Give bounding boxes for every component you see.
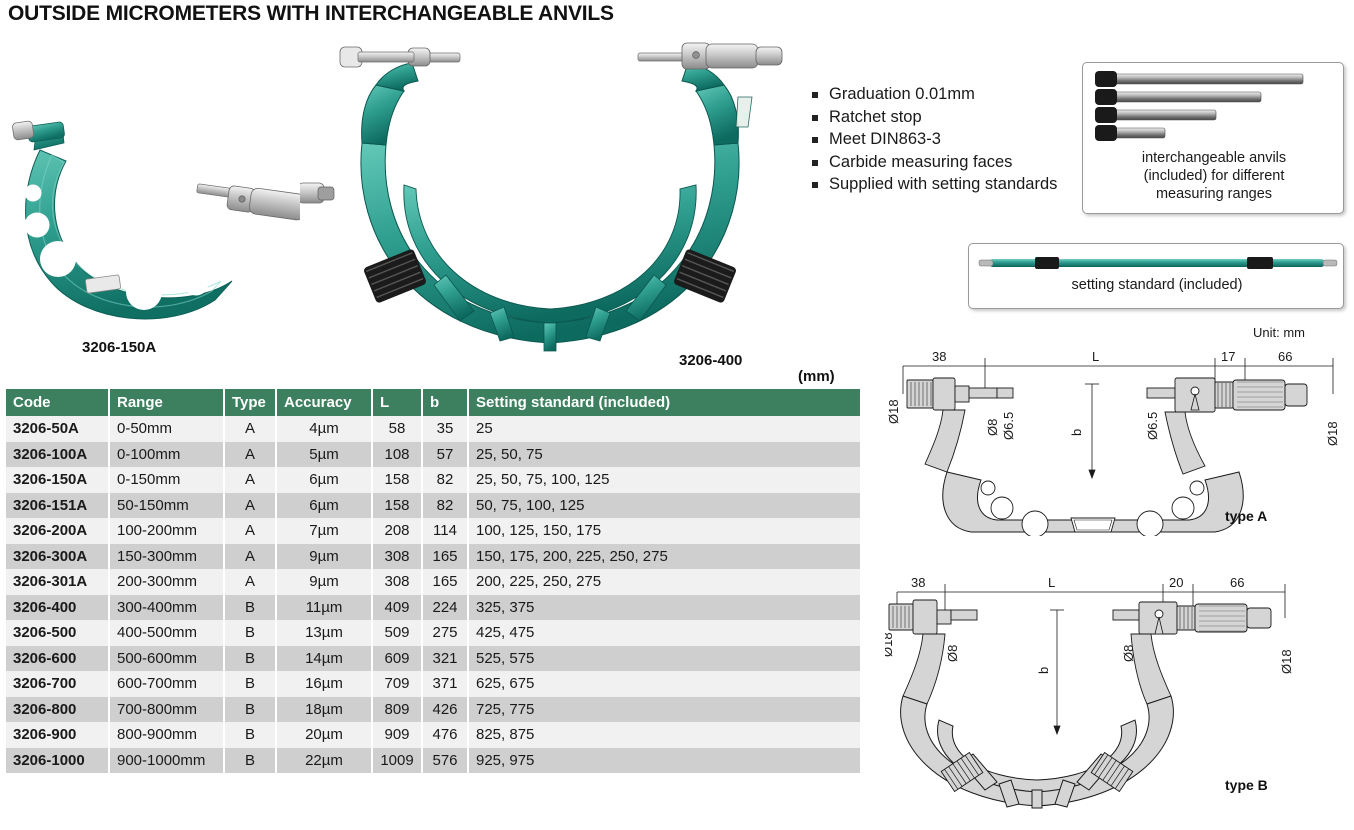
col-header-range: Range: [109, 389, 224, 416]
table-row: 3206-800700-800mmB18µm809426725, 775: [6, 697, 860, 723]
cell-l: 158: [372, 493, 422, 519]
cell-range: 50-150mm: [109, 493, 224, 519]
cell-setting-standard: 25, 50, 75: [468, 442, 860, 468]
cell-type: B: [224, 646, 276, 672]
cell-accuracy: 18µm: [276, 697, 372, 723]
cell-l: 58: [372, 416, 422, 442]
dia-a-65-right: Ø6.5: [1145, 412, 1160, 440]
cell-type: B: [224, 697, 276, 723]
cell-b: 82: [422, 493, 468, 519]
table-row: 3206-1000900-1000mmB22µm1009576925, 975: [6, 748, 860, 774]
cell-b: 165: [422, 544, 468, 570]
table-row: 3206-500400-500mmB13µm509275425, 475: [6, 620, 860, 646]
cell-l: 208: [372, 518, 422, 544]
cell-range: 100-200mm: [109, 518, 224, 544]
cell-range: 0-50mm: [109, 416, 224, 442]
cell-type: B: [224, 671, 276, 697]
dim-b-L: L: [1048, 575, 1055, 590]
cell-setting-standard: 25, 50, 75, 100, 125: [468, 467, 860, 493]
cell-setting-standard: 25: [468, 416, 860, 442]
dia-b-right: Ø18: [1279, 649, 1294, 674]
cell-accuracy: 9µm: [276, 569, 372, 595]
cell-l: 909: [372, 722, 422, 748]
dia-b-left: Ø18: [885, 632, 895, 657]
cell-code: 3206-150A: [6, 467, 109, 493]
table-row: 3206-301A200-300mmA9µm308165200, 225, 25…: [6, 569, 860, 595]
cell-setting-standard: 150, 175, 200, 225, 250, 275: [468, 544, 860, 570]
cell-l: 409: [372, 595, 422, 621]
feature-item: Graduation 0.01mm: [812, 84, 1077, 106]
cell-accuracy: 20µm: [276, 722, 372, 748]
product-photo-3206-150A: [0, 95, 300, 340]
setting-standard-box: setting standard (included): [968, 243, 1344, 309]
cell-setting-standard: 200, 225, 250, 275: [468, 569, 860, 595]
cell-type: A: [224, 544, 276, 570]
cell-accuracy: 7µm: [276, 518, 372, 544]
cell-b: 426: [422, 697, 468, 723]
table-row: 3206-150A0-150mmA6µm1588225, 50, 75, 100…: [6, 467, 860, 493]
type-b-label: type B: [1225, 777, 1268, 793]
cell-type: A: [224, 416, 276, 442]
dia-a-left: Ø18: [886, 399, 901, 424]
cell-setting-standard: 100, 125, 150, 175: [468, 518, 860, 544]
col-header-l: L: [372, 389, 422, 416]
cell-type: B: [224, 595, 276, 621]
cell-range: 600-700mm: [109, 671, 224, 697]
cell-l: 709: [372, 671, 422, 697]
dim-a-38: 38: [932, 349, 946, 364]
cell-setting-standard: 325, 375: [468, 595, 860, 621]
cell-setting-standard: 425, 475: [468, 620, 860, 646]
table-row: 3206-50A0-50mmA4µm583525: [6, 416, 860, 442]
cell-code: 3206-301A: [6, 569, 109, 595]
dim-b-66: 66: [1230, 575, 1244, 590]
cell-setting-standard: 725, 775: [468, 697, 860, 723]
table-header-row: Code Range Type Accuracy L b Setting sta…: [6, 389, 860, 416]
cell-range: 500-600mm: [109, 646, 224, 672]
cell-range: 300-400mm: [109, 595, 224, 621]
cell-setting-standard: 625, 675: [468, 671, 860, 697]
col-header-code: Code: [6, 389, 109, 416]
cell-accuracy: 16µm: [276, 671, 372, 697]
cell-type: A: [224, 569, 276, 595]
feature-item: Meet DIN863-3: [812, 129, 1077, 151]
table-row: 3206-151A50-150mmA6µm1588250, 75, 100, 1…: [6, 493, 860, 519]
cell-l: 609: [372, 646, 422, 672]
cell-code: 3206-800: [6, 697, 109, 723]
anvils-photo: [1089, 69, 1339, 149]
cell-type: A: [224, 467, 276, 493]
dim-a-17: 17: [1221, 349, 1235, 364]
page-title: OUTSIDE MICROMETERS WITH INTERCHANGEABLE…: [8, 2, 614, 26]
table-body: 3206-50A0-50mmA4µm5835253206-100A0-100mm…: [6, 416, 860, 773]
dia-a-65-left: Ø6.5: [1001, 412, 1016, 440]
cell-setting-standard: 825, 875: [468, 722, 860, 748]
cell-l: 308: [372, 544, 422, 570]
cell-range: 0-100mm: [109, 442, 224, 468]
cell-code: 3206-900: [6, 722, 109, 748]
col-header-accuracy: Accuracy: [276, 389, 372, 416]
table-unit-note: (mm): [798, 368, 835, 385]
dim-b-38: 38: [911, 575, 925, 590]
col-header-type: Type: [224, 389, 276, 416]
cell-range: 150-300mm: [109, 544, 224, 570]
col-header-setting-standard: Setting standard (included): [468, 389, 860, 416]
dia-a-right: Ø18: [1325, 421, 1340, 446]
cell-l: 1009: [372, 748, 422, 774]
cell-accuracy: 22µm: [276, 748, 372, 774]
anvils-caption: interchangeable anvils (included) for di…: [1087, 149, 1341, 203]
cell-accuracy: 14µm: [276, 646, 372, 672]
cell-b: 476: [422, 722, 468, 748]
anvils-caption-line1: interchangeable anvils: [1142, 150, 1286, 166]
product-label-large: 3206-400: [679, 352, 742, 369]
dim-a-66: 66: [1278, 349, 1292, 364]
dim-a-b: b: [1069, 429, 1084, 436]
cell-code: 3206-50A: [6, 416, 109, 442]
table-row: 3206-300A150-300mmA9µm308165150, 175, 20…: [6, 544, 860, 570]
dim-a-L: L: [1092, 349, 1099, 364]
table-row: 3206-600500-600mmB14µm609321525, 575: [6, 646, 860, 672]
cell-accuracy: 5µm: [276, 442, 372, 468]
setting-standard-photo: [975, 250, 1339, 276]
product-photo-3206-400: [300, 35, 800, 370]
feature-item: Supplied with setting standards: [812, 174, 1077, 196]
cell-b: 224: [422, 595, 468, 621]
dia-a-8: Ø8: [985, 419, 1000, 436]
cell-b: 275: [422, 620, 468, 646]
cell-accuracy: 9µm: [276, 544, 372, 570]
cell-range: 700-800mm: [109, 697, 224, 723]
cell-setting-standard: 50, 75, 100, 125: [468, 493, 860, 519]
table-row: 3206-400300-400mmB11µm409224325, 375: [6, 595, 860, 621]
cell-range: 400-500mm: [109, 620, 224, 646]
cell-range: 200-300mm: [109, 569, 224, 595]
setting-standard-caption: setting standard (included): [969, 277, 1345, 293]
col-header-b: b: [422, 389, 468, 416]
feature-item: Ratchet stop: [812, 107, 1077, 129]
cell-accuracy: 13µm: [276, 620, 372, 646]
cell-l: 308: [372, 569, 422, 595]
table-row: 3206-900800-900mmB20µm909476825, 875: [6, 722, 860, 748]
cell-code: 3206-100A: [6, 442, 109, 468]
technical-drawing-type-a: 38 L 17 66 Ø18 Ø8 Ø6.5 Ø6.5 Ø18 b: [885, 336, 1354, 536]
cell-type: A: [224, 442, 276, 468]
type-a-label: type A: [1225, 508, 1267, 524]
cell-range: 900-1000mm: [109, 748, 224, 774]
cell-range: 800-900mm: [109, 722, 224, 748]
feature-item: Carbide measuring faces: [812, 152, 1077, 174]
cell-code: 3206-200A: [6, 518, 109, 544]
cell-setting-standard: 925, 975: [468, 748, 860, 774]
cell-b: 82: [422, 467, 468, 493]
cell-l: 509: [372, 620, 422, 646]
anvils-caption-line2: (included) for different: [1144, 168, 1285, 184]
table-row: 3206-700600-700mmB16µm709371625, 675: [6, 671, 860, 697]
cell-accuracy: 11µm: [276, 595, 372, 621]
cell-accuracy: 4µm: [276, 416, 372, 442]
table-row: 3206-100A0-100mmA5µm1085725, 50, 75: [6, 442, 860, 468]
cell-accuracy: 6µm: [276, 467, 372, 493]
specification-table: Code Range Type Accuracy L b Setting sta…: [6, 389, 860, 773]
anvils-caption-line3: measuring ranges: [1156, 186, 1272, 202]
cell-l: 158: [372, 467, 422, 493]
cell-type: B: [224, 620, 276, 646]
cell-setting-standard: 525, 575: [468, 646, 860, 672]
cell-b: 371: [422, 671, 468, 697]
product-label-small: 3206-150A: [82, 339, 156, 356]
dim-b-b: b: [1036, 667, 1051, 674]
cell-b: 57: [422, 442, 468, 468]
catalog-page: OUTSIDE MICROMETERS WITH INTERCHANGEABLE…: [0, 0, 1354, 830]
cell-code: 3206-151A: [6, 493, 109, 519]
cell-b: 114: [422, 518, 468, 544]
cell-code: 3206-1000: [6, 748, 109, 774]
cell-code: 3206-400: [6, 595, 109, 621]
cell-type: B: [224, 722, 276, 748]
cell-type: A: [224, 493, 276, 519]
cell-b: 35: [422, 416, 468, 442]
cell-l: 809: [372, 697, 422, 723]
table-row: 3206-200A100-200mmA7µm208114100, 125, 15…: [6, 518, 860, 544]
cell-b: 321: [422, 646, 468, 672]
dim-b-20: 20: [1169, 575, 1183, 590]
interchangeable-anvils-box: interchangeable anvils (included) for di…: [1082, 62, 1344, 214]
cell-l: 108: [372, 442, 422, 468]
dia-b-8-left: Ø8: [945, 645, 960, 662]
cell-accuracy: 6µm: [276, 493, 372, 519]
cell-code: 3206-600: [6, 646, 109, 672]
feature-list: Graduation 0.01mm Ratchet stop Meet DIN8…: [812, 84, 1077, 197]
cell-type: A: [224, 518, 276, 544]
cell-code: 3206-300A: [6, 544, 109, 570]
cell-code: 3206-500: [6, 620, 109, 646]
cell-type: B: [224, 748, 276, 774]
cell-b: 165: [422, 569, 468, 595]
cell-range: 0-150mm: [109, 467, 224, 493]
cell-b: 576: [422, 748, 468, 774]
technical-drawing-type-b: 38 L 20 66 Ø18 Ø8 Ø8 Ø18 b: [885, 562, 1354, 812]
cell-code: 3206-700: [6, 671, 109, 697]
